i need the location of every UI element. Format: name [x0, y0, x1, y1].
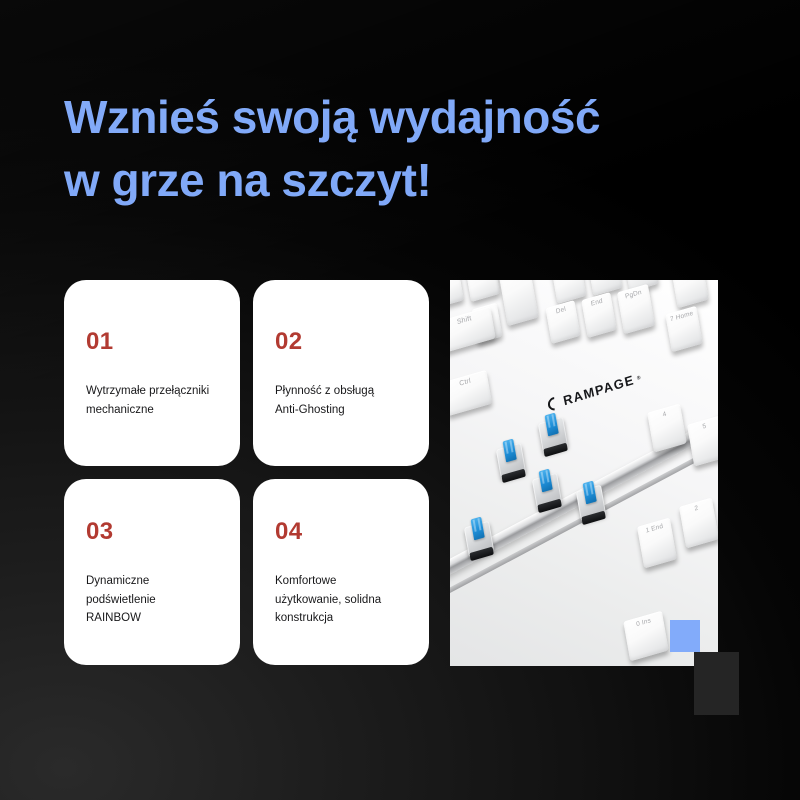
rampage-mark-icon	[545, 394, 563, 413]
keycap: Del	[545, 300, 580, 344]
keycap: PgDn	[617, 284, 655, 334]
card-description: Płynność z obsługą Anti-Ghosting	[275, 382, 409, 419]
mechanical-switch	[496, 443, 526, 480]
keycap: Ctrl	[450, 370, 492, 416]
mechanical-switch	[576, 485, 606, 522]
feature-card-03: 03 Dynamiczne podświetlenie RAINBOW	[64, 479, 240, 665]
keycap: 2	[679, 498, 718, 549]
accent-square-blue	[670, 620, 700, 652]
mechanical-switch	[532, 473, 562, 510]
keycap: Enter	[497, 280, 538, 326]
rampage-logo: RAMPAGE ®	[547, 370, 642, 413]
rampage-wordmark: RAMPAGE	[562, 372, 636, 408]
keycap	[466, 280, 500, 302]
keycap: 1 End	[637, 518, 677, 569]
card-description: Komfortowe użytkowanie, solidna konstruk…	[275, 572, 409, 628]
keycap: Num	[671, 280, 708, 308]
mechanical-switch	[538, 417, 568, 454]
card-number: 04	[275, 518, 409, 546]
keycap: 7 Home	[665, 306, 702, 352]
card-number: 01	[86, 328, 220, 356]
card-description: Dynamiczne podświetlenie RAINBOW	[86, 572, 220, 628]
registered-trademark-icon: ®	[636, 374, 641, 381]
page-title: Wznieś swoją wydajność w grze na szczyt!	[64, 86, 724, 213]
keycap: Shift	[450, 306, 496, 353]
mechanical-switch	[464, 521, 494, 558]
feature-card-02: 02 Płynność z obsługą Anti-Ghosting	[253, 280, 429, 466]
promo-poster: Wznieś swoją wydajność w grze na szczyt!…	[0, 0, 800, 800]
keycap: Ü	[450, 280, 464, 308]
keycap: End	[581, 292, 616, 338]
product-photo: Ü Enter Shift Ctrl Ins Home PgUp Del End…	[450, 280, 718, 666]
card-description: Wytrzymałe przełączniki mechaniczne	[86, 382, 220, 419]
keycap: 0 Ins	[623, 611, 668, 662]
card-number: 02	[275, 328, 409, 356]
card-number: 03	[86, 518, 220, 546]
feature-card-01: 01 Wytrzymałe przełączniki mechaniczne	[64, 280, 240, 466]
accent-square-dark	[694, 652, 739, 715]
feature-card-grid: 01 Wytrzymałe przełączniki mechaniczne 0…	[64, 280, 426, 665]
feature-card-04: 04 Komfortowe użytkowanie, solidna konst…	[253, 479, 429, 665]
keyboard-body: Ü Enter Shift Ctrl Ins Home PgUp Del End…	[450, 280, 718, 666]
